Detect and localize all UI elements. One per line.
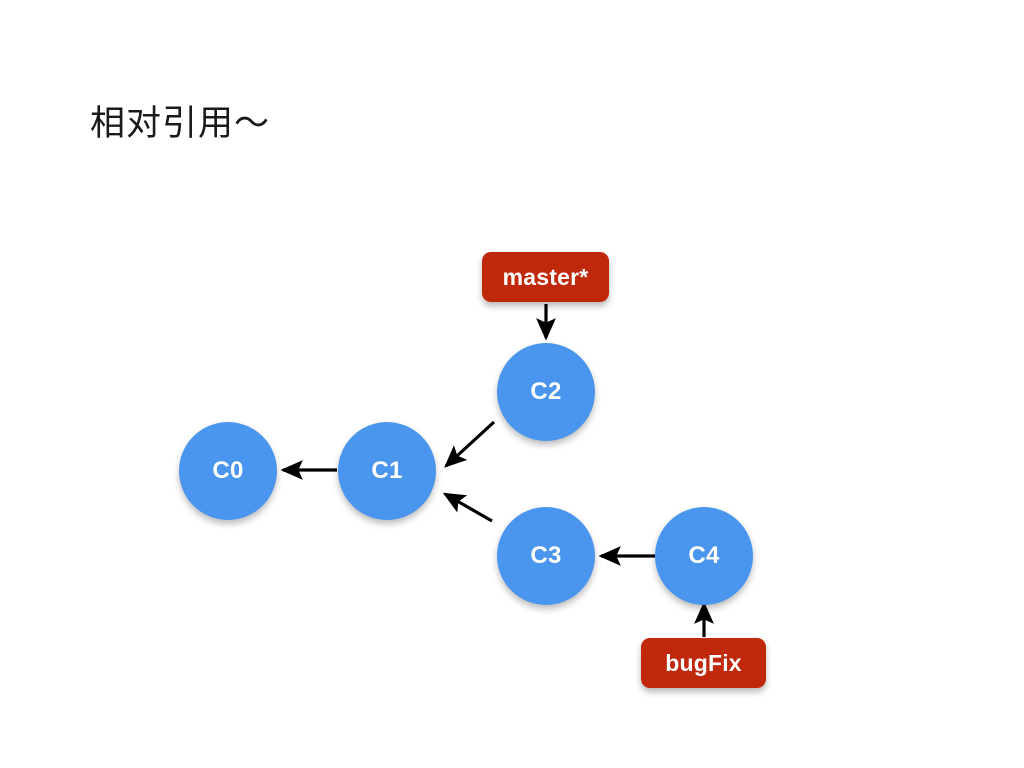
commit-label-c2: C2: [530, 378, 561, 406]
commit-node-c2[interactable]: C2: [497, 343, 595, 441]
commit-node-c3[interactable]: C3: [497, 507, 595, 605]
commit-label-c4: C4: [688, 542, 719, 570]
arrow-c2-to-c1: [446, 422, 494, 466]
branch-tag-label-master: master*: [503, 264, 589, 291]
commit-node-c4[interactable]: C4: [655, 507, 753, 605]
commit-node-c0[interactable]: C0: [179, 422, 277, 520]
branch-tag-master[interactable]: master*: [482, 252, 609, 302]
commit-node-c1[interactable]: C1: [338, 422, 436, 520]
commit-label-c3: C3: [530, 542, 561, 570]
arrow-c3-to-c1: [445, 494, 492, 521]
branch-tag-label-bugfix: bugFix: [665, 650, 742, 677]
commit-graph: C0 C1 C2 C3 C4 master* bugFix: [0, 0, 1024, 768]
slide-canvas: 相对引用～ C0 C1: [0, 0, 1024, 768]
commit-label-c0: C0: [212, 457, 243, 485]
branch-tag-bugfix[interactable]: bugFix: [641, 638, 766, 688]
commit-label-c1: C1: [371, 457, 402, 485]
